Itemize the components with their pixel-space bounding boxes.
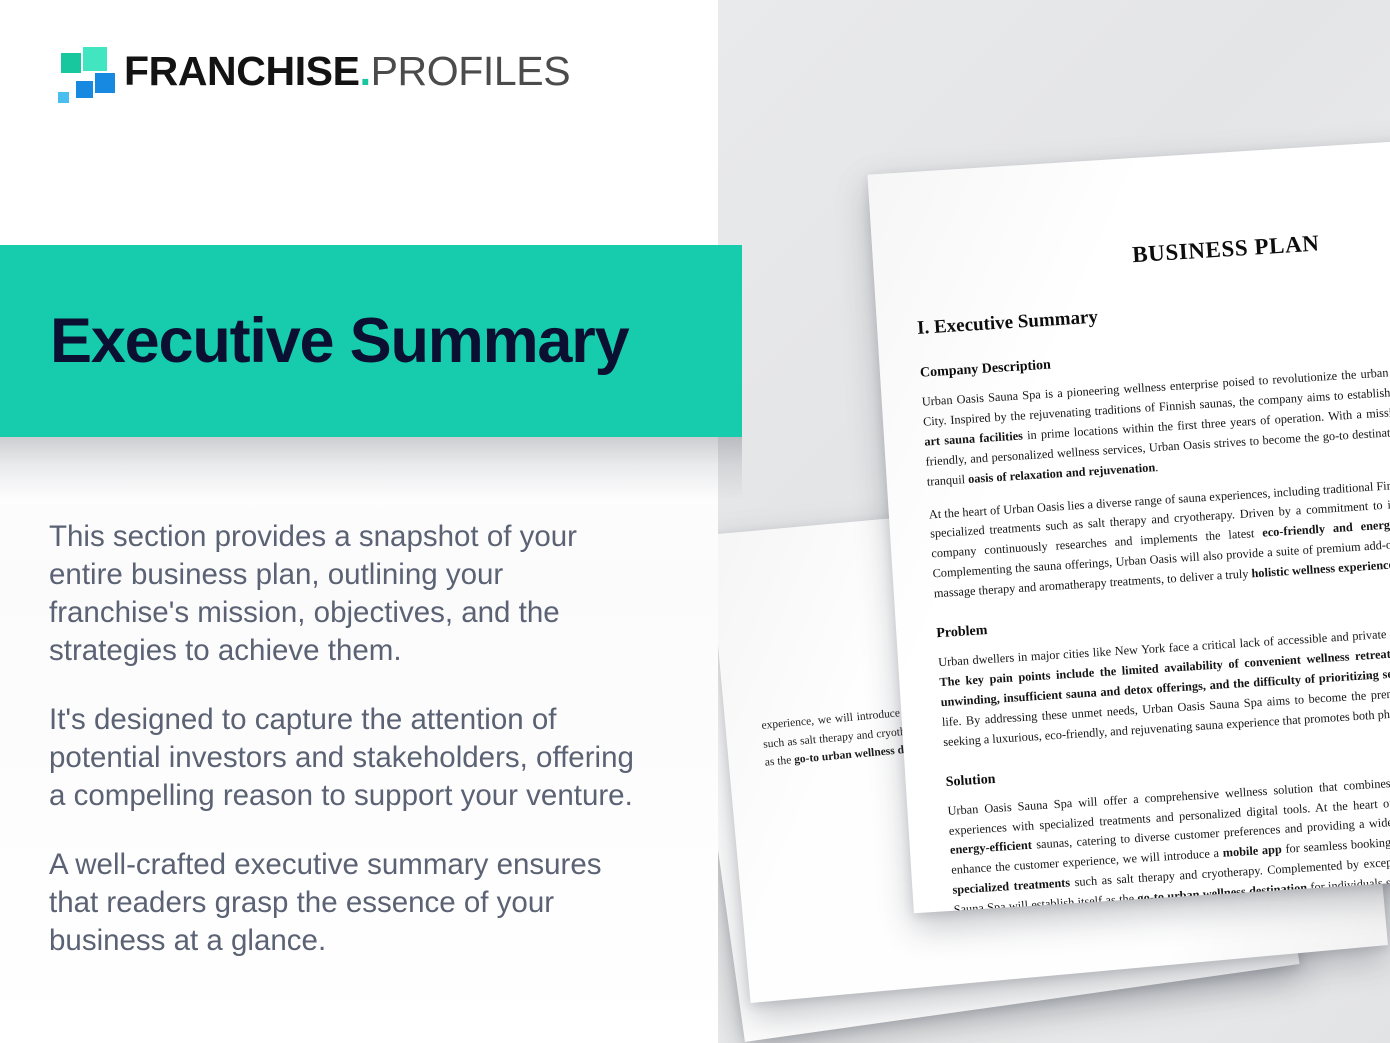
brand-logo[interactable]: FRANCHISE.PROFILES [48, 45, 570, 97]
description-paragraph-3: A well-crafted executive summary ensures… [49, 846, 649, 960]
description-paragraph-2: It's designed to capture the attention o… [49, 701, 649, 815]
document-subsection: Solution Urban Oasis Sauna Spa will offe… [945, 735, 1390, 913]
logo-square-teal [59, 51, 83, 75]
document-subsection: Problem Urban dwellers in major cities l… [936, 587, 1390, 753]
brand-name-bold: FRANCHISE [124, 48, 360, 94]
description-paragraph-1: This section provides a snapshot of your… [49, 518, 649, 670]
page-edge-artifact: , [1368, 668, 1371, 680]
section-description: This section provides a snapshot of your… [49, 518, 649, 960]
section-title-banner: Executive Summary [0, 245, 742, 437]
logo-square-mint [81, 45, 109, 73]
brand-name-dot: . [360, 48, 371, 94]
banner-drop-shadow [0, 437, 742, 499]
document-section-heading: I. Executive Summary [917, 279, 1390, 340]
document-title: BUSINESS PLAN [913, 217, 1390, 282]
page-title: Executive Summary [50, 310, 628, 373]
logo-square-light-blue [56, 90, 71, 105]
business-plan-document-image: experience, we will introduce a mobile a… [718, 0, 1390, 1043]
logo-square-blue-large [93, 71, 117, 95]
logo-square-blue-small [74, 79, 95, 100]
brand-name-light: PROFILES [371, 48, 571, 94]
brand-wordmark: FRANCHISE.PROFILES [124, 51, 570, 92]
document-page-front: BUSINESS PLAN I. Executive Summary Compa… [867, 131, 1390, 913]
franchise-profiles-logo-icon [48, 45, 106, 97]
document-subsection: Company Description Urban Oasis Sauna Sp… [920, 327, 1390, 605]
